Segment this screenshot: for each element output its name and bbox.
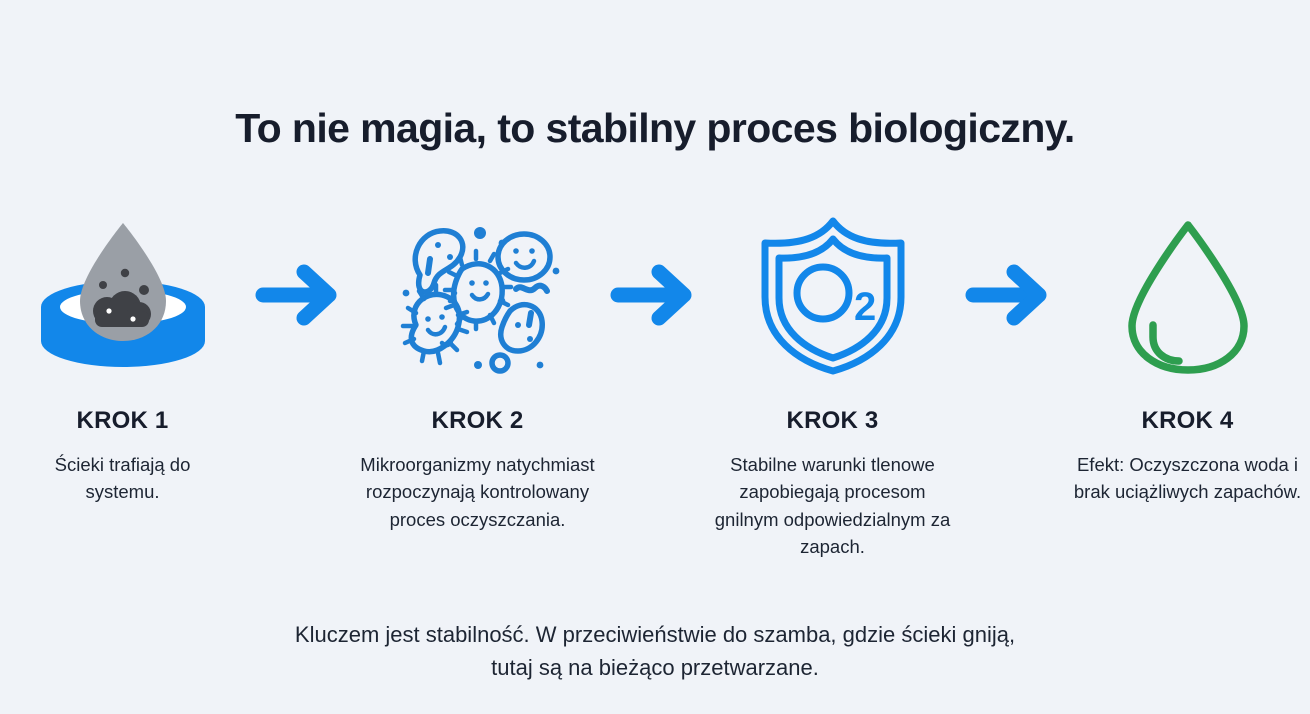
step-3-label: KROK 3 bbox=[787, 407, 879, 435]
dirty-water-droplet-into-tank-icon bbox=[33, 213, 213, 378]
oxygen-shield-o2-icon: 2 bbox=[753, 213, 913, 378]
infographic-page: To nie magia, to stabilny proces biologi… bbox=[0, 0, 1310, 714]
arrow-right-icon bbox=[606, 260, 704, 330]
arrow-right-icon bbox=[961, 260, 1059, 330]
step-item-3: 2 KROK 3 Stabilne warunki tlenowe zapobi… bbox=[710, 205, 955, 561]
step-3-description: Stabilne warunki tlenowe zapobiegają pro… bbox=[710, 451, 955, 561]
step-4-description: Efekt: Oczyszczona woda i brak uciążliwy… bbox=[1068, 451, 1308, 506]
step-1-label: KROK 1 bbox=[77, 407, 169, 435]
step-2-icon-box bbox=[390, 205, 565, 385]
step-4-icon-box bbox=[1113, 205, 1263, 385]
step-2-description: Mikroorganizmy natychmiast rozpoczynają … bbox=[355, 451, 600, 533]
microorganisms-bacteria-icon bbox=[390, 213, 565, 378]
page-title: To nie magia, to stabilny proces biologi… bbox=[0, 105, 1310, 152]
footer-line-2: tutaj są na bieżąco przetwarzane. bbox=[0, 651, 1310, 684]
step-1-description: Ścieki trafiają do systemu. bbox=[20, 451, 225, 506]
step-item-4: KROK 4 Efekt: Oczyszczona woda i brak uc… bbox=[1065, 205, 1310, 506]
step-1-icon-box bbox=[33, 205, 213, 385]
arrow-2-box bbox=[600, 205, 710, 385]
step-item-2: KROK 2 Mikroorganizmy natychmiast rozpoc… bbox=[355, 205, 600, 533]
clean-water-droplet-icon bbox=[1113, 213, 1263, 378]
steps-row: KROK 1 Ścieki trafiają do systemu. bbox=[0, 205, 1310, 561]
step-item-1: KROK 1 Ścieki trafiają do systemu. bbox=[0, 205, 245, 506]
arrow-3-box bbox=[955, 205, 1065, 385]
footer-note: Kluczem jest stabilność. W przeciwieństw… bbox=[0, 618, 1310, 684]
arrow-1-box bbox=[245, 205, 355, 385]
footer-line-1: Kluczem jest stabilność. W przeciwieństw… bbox=[0, 618, 1310, 651]
arrow-right-icon bbox=[251, 260, 349, 330]
step-2-label: KROK 2 bbox=[432, 407, 524, 435]
o2-subscript-label: 2 bbox=[854, 285, 876, 329]
step-4-label: KROK 4 bbox=[1142, 407, 1234, 435]
step-3-icon-box: 2 bbox=[753, 205, 913, 385]
